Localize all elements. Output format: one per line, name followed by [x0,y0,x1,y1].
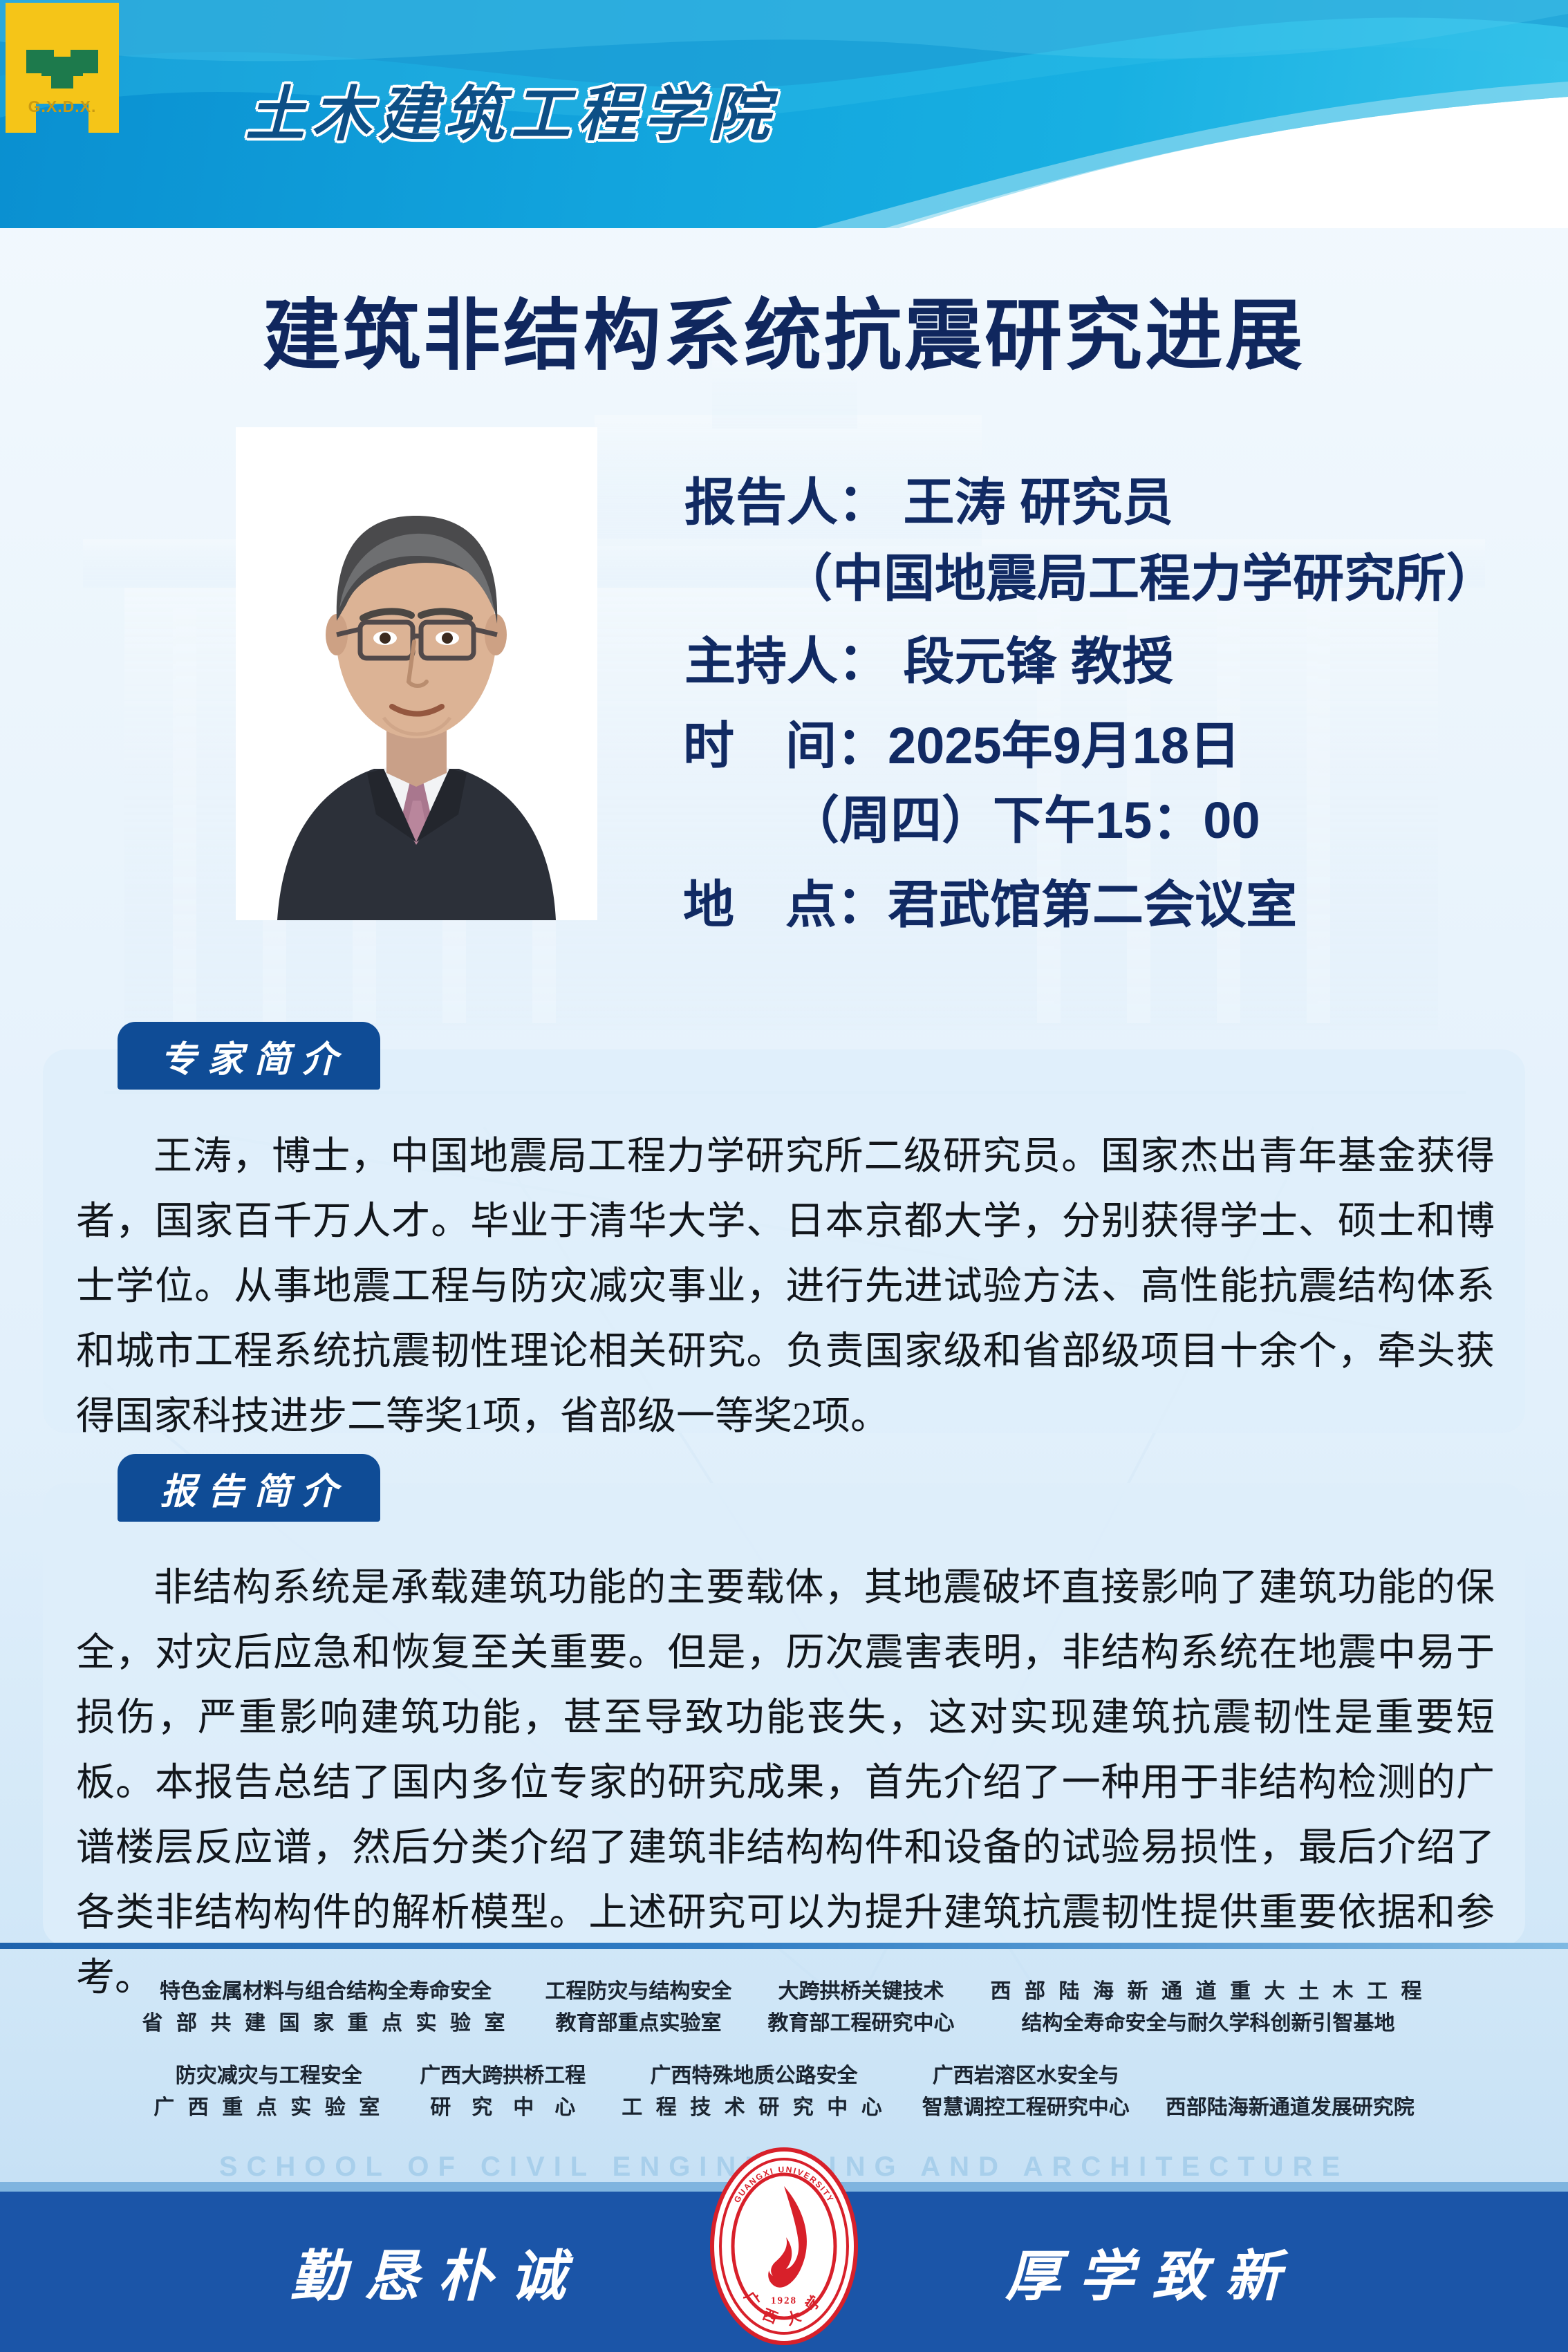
labs-divider [0,1943,1568,1949]
motto-right: 厚学致新 [1005,2232,1298,2312]
time-line-clock: （周四）下午15：00 [788,795,1521,846]
lab-line-1: 工程防灾与结构安全 [545,1976,732,2008]
seminar-poster: G.X.D.X. 土木建筑工程学院 建筑非结构系统抗震研究进展 [0,0,1568,2352]
lab-item: 广西岩溶区水安全与 智慧调控工程研究中心 [904,2060,1148,2124]
motto-left: 勤恳朴诚 [290,2232,584,2312]
lab-item: 广西特殊地质公路安全 工 程 技 术 研 究 中 心 [604,2060,904,2124]
lab-item: 防灾减灾与工程安全 广 西 重 点 实 验 室 [136,2060,402,2124]
time-line-date: 时 间：2025年9月18日 [683,720,1521,772]
speaker-portrait [236,427,597,920]
lab-line-2: 广 西 重 点 实 验 室 [153,2092,384,2124]
lab-line-2: 省 部 共 建 国 家 重 点 实 验 室 [142,2008,510,2040]
lab-line-2: 结构全寿命安全与耐久学科创新引智基地 [991,2008,1426,2040]
header-wave-decoration [0,0,1568,228]
svg-text:G.X.D.X.: G.X.D.X. [28,97,97,115]
lab-line-2: 智慧调控工程研究中心 [922,2092,1130,2124]
labs-row-1: 特色金属材料与组合结构全寿命安全 省 部 共 建 国 家 重 点 实 验 室 工… [0,1976,1568,2040]
speaker-line: 报告人： 王涛 研究员 [684,477,1521,528]
page-title: 建筑非结构系统抗震研究进展 [0,273,1568,385]
gxdx-logo-icon: G.X.D.X. [0,0,124,136]
place-line: 地 点：君武馆第二会议室 [683,879,1521,931]
lab-item: 大跨拱桥关键技术 教育部工程研究中心 [750,1976,973,2040]
lab-line-1: 大跨拱桥关键技术 [768,1976,955,2008]
labs-row-2: 防灾减灾与工程安全 广 西 重 点 实 验 室 广西大跨拱桥工程 研 究 中 心… [0,2060,1568,2124]
university-seal-icon: GUANGXI UNIVERSITY 广 西 大 学 1928 [709,2146,859,2346]
header-banner: G.X.D.X. 土木建筑工程学院 [0,0,1568,228]
lab-item: 西部陆海新通道发展研究院 [1148,2060,1432,2124]
lab-line-1: 特色金属材料与组合结构全寿命安全 [142,1976,510,2008]
lab-line-2: 工 程 技 术 研 究 中 心 [622,2092,886,2124]
lab-line-1: 西 部 陆 海 新 通 道 重 大 土 木 工 程 [991,1976,1426,2008]
lab-line-1: 广西大跨拱桥工程 [420,2060,586,2092]
host-line: 主持人： 段元锋 教授 [684,636,1521,687]
svg-text:1928: 1928 [771,2295,797,2306]
speaker-affiliation: （中国地震局工程力学研究所） [781,553,1521,604]
lab-item: 西 部 陆 海 新 通 道 重 大 土 木 工 程 结构全寿命安全与耐久学科创新… [973,1976,1444,2040]
lab-item: 广西大跨拱桥工程 研 究 中 心 [402,2060,604,2124]
lab-line-2: 研 究 中 心 [420,2092,586,2124]
lab-line-1: 广西特殊地质公路安全 [622,2060,886,2092]
lab-line-1: 防灾减灾与工程安全 [153,2060,384,2092]
expert-profile-badge: 专家简介 [118,1022,380,1090]
college-name: 土木建筑工程学院 [245,66,776,152]
lab-line-2: 教育部重点实验室 [545,2008,732,2040]
lab-line-1: 广西岩溶区水安全与 [922,2060,1130,2092]
abstract-badge: 报告简介 [118,1454,380,1522]
lab-item: 特色金属材料与组合结构全寿命安全 省 部 共 建 国 家 重 点 实 验 室 [124,1976,528,2040]
lab-line-1: 西部陆海新通道发展研究院 [1166,2092,1415,2124]
expert-profile-text: 王涛，博士，中国地震局工程力学研究所二级研究员。国家杰出青年基金获得者，国家百千… [76,1124,1495,1449]
lab-item: 工程防灾与结构安全 教育部重点实验室 [528,1976,750,2040]
affiliated-labs: 特色金属材料与组合结构全寿命安全 省 部 共 建 国 家 重 点 实 验 室 工… [0,1936,1568,2157]
lab-line-2: 教育部工程研究中心 [768,2008,955,2040]
event-details: 报告人： 王涛 研究员 （中国地震局工程力学研究所） 主持人： 段元锋 教授 时… [664,477,1521,931]
